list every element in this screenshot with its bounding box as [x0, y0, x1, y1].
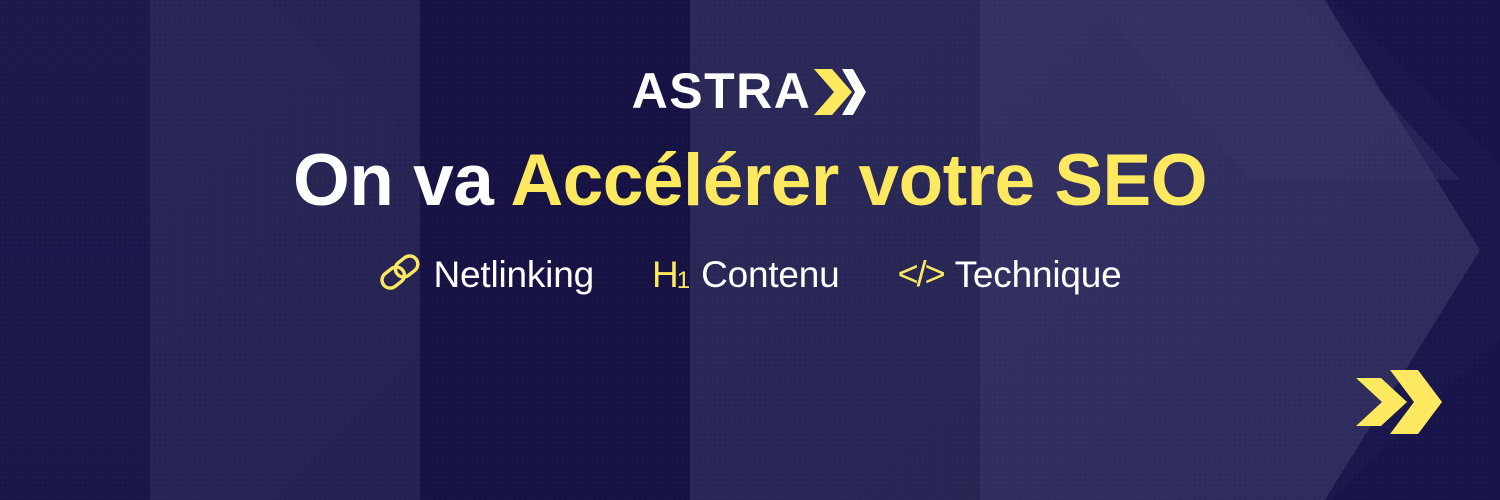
feature-label-contenu: Contenu	[701, 256, 840, 293]
headline: On va Accélérer votre SEO	[293, 144, 1207, 217]
feature-label-technique: Technique	[955, 256, 1122, 293]
feature-label-netlinking: Netlinking	[433, 256, 593, 293]
astra-logo[interactable]: ASTRA	[632, 64, 869, 118]
feature-item-technique[interactable]: </> Technique	[898, 256, 1122, 293]
headline-accent: Accélérer votre SEO	[510, 140, 1207, 221]
code-tag-icon: </>	[898, 256, 944, 292]
seo-promo-banner: ASTRA On va Accélérer votre SEO	[0, 0, 1500, 500]
feature-item-contenu[interactable]: H1 Contenu	[652, 256, 840, 293]
corner-double-chevron-right-icon	[1354, 364, 1444, 440]
chain-link-icon	[378, 253, 422, 295]
feature-item-netlinking[interactable]: Netlinking	[378, 253, 593, 295]
feature-list: Netlinking H1 Contenu </> Technique	[378, 253, 1121, 295]
headline-lead: On va	[293, 140, 510, 221]
h1-heading-subscript: 1	[677, 269, 689, 293]
logo-wordmark: ASTRA	[632, 66, 812, 116]
double-chevron-right-icon	[812, 67, 868, 117]
banner-content: ASTRA On va Accélérer votre SEO	[0, 0, 1500, 500]
h1-heading-icon: H1	[652, 256, 690, 293]
h1-heading-letter: H	[652, 256, 678, 293]
